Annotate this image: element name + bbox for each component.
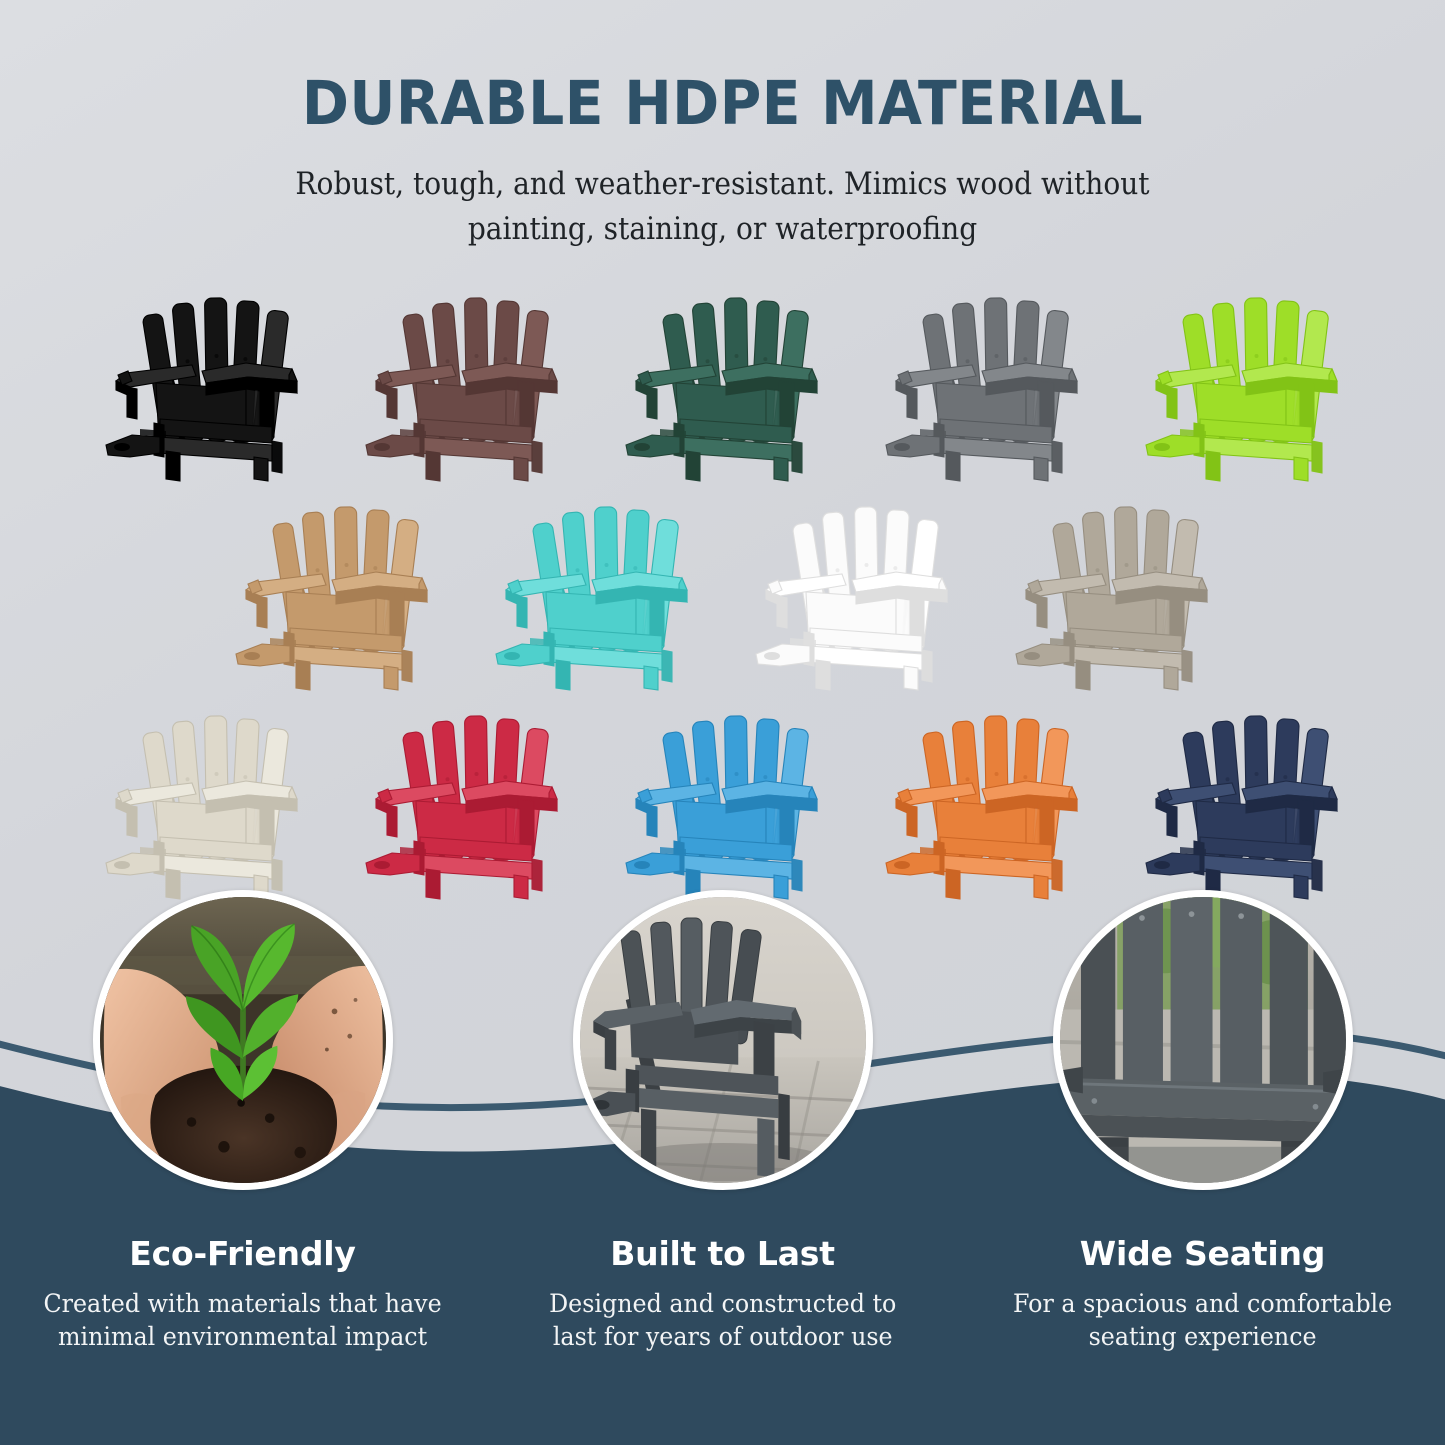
feature-desc-line-2: last for years of outdoor use [549, 1320, 896, 1353]
chair-navy-blue[interactable] [1127, 690, 1359, 905]
chair-lime-green[interactable] [1127, 272, 1359, 487]
page-subtitle: Robust, tough, and weather-resistant. Mi… [58, 162, 1387, 252]
chair-khaki[interactable] [997, 481, 1229, 696]
subtitle-line-2: painting, staining, or waterproofing [58, 207, 1387, 252]
gray-adirondack-chair-on-patio-photo [573, 890, 873, 1190]
chair-dark-green[interactable] [607, 272, 839, 487]
feature-desc-line-1: For a spacious and comfortable [1013, 1287, 1392, 1320]
chair-row-1 [0, 272, 1445, 487]
feature-title: Wide Seating [1080, 1234, 1325, 1273]
gray-chair-wide-seat-closeup-photo [1053, 890, 1353, 1190]
chair-color-grid [0, 272, 1445, 905]
feature-eco-friendly: Eco-FriendlyCreated with materials that … [33, 890, 453, 1353]
chair-gray[interactable] [867, 272, 1099, 487]
feature-description: Created with materials that haveminimal … [43, 1287, 441, 1353]
chair-turquoise[interactable] [477, 481, 709, 696]
subtitle-line-1: Robust, tough, and weather-resistant. Mi… [58, 162, 1387, 207]
infographic-page: DURABLE HDPE MATERIAL Robust, tough, and… [0, 0, 1445, 1445]
chair-black[interactable] [87, 272, 319, 487]
chair-blue[interactable] [607, 690, 839, 905]
feature-title: Built to Last [610, 1234, 835, 1273]
features-section: Eco-FriendlyCreated with materials that … [0, 890, 1445, 1353]
chair-beige[interactable] [87, 690, 319, 905]
feature-desc-line-2: minimal environmental impact [43, 1320, 441, 1353]
feature-desc-line-1: Created with materials that have [43, 1287, 441, 1320]
feature-built-to-last: Built to LastDesigned and constructed to… [513, 890, 933, 1353]
feature-desc-line-1: Designed and constructed to [549, 1287, 896, 1320]
chair-row-2 [0, 481, 1445, 696]
header: DURABLE HDPE MATERIAL Robust, tough, and… [0, 0, 1445, 252]
chair-row-3 [0, 690, 1445, 905]
page-title: DURABLE HDPE MATERIAL [51, 72, 1395, 136]
feature-wide-seating: Wide SeatingFor a spacious and comfortab… [993, 890, 1413, 1353]
hands-holding-seedling-in-soil-photo [93, 890, 393, 1190]
feature-desc-line-2: seating experience [1013, 1320, 1392, 1353]
feature-row: Eco-FriendlyCreated with materials that … [0, 890, 1445, 1353]
feature-description: Designed and constructed tolast for year… [549, 1287, 896, 1353]
chair-orange[interactable] [867, 690, 1099, 905]
feature-title: Eco-Friendly [129, 1234, 355, 1273]
feature-description: For a spacious and comfortableseating ex… [1013, 1287, 1392, 1353]
chair-white[interactable] [737, 481, 969, 696]
chair-brown[interactable] [347, 272, 579, 487]
chair-teak[interactable] [217, 481, 449, 696]
chair-red[interactable] [347, 690, 579, 905]
